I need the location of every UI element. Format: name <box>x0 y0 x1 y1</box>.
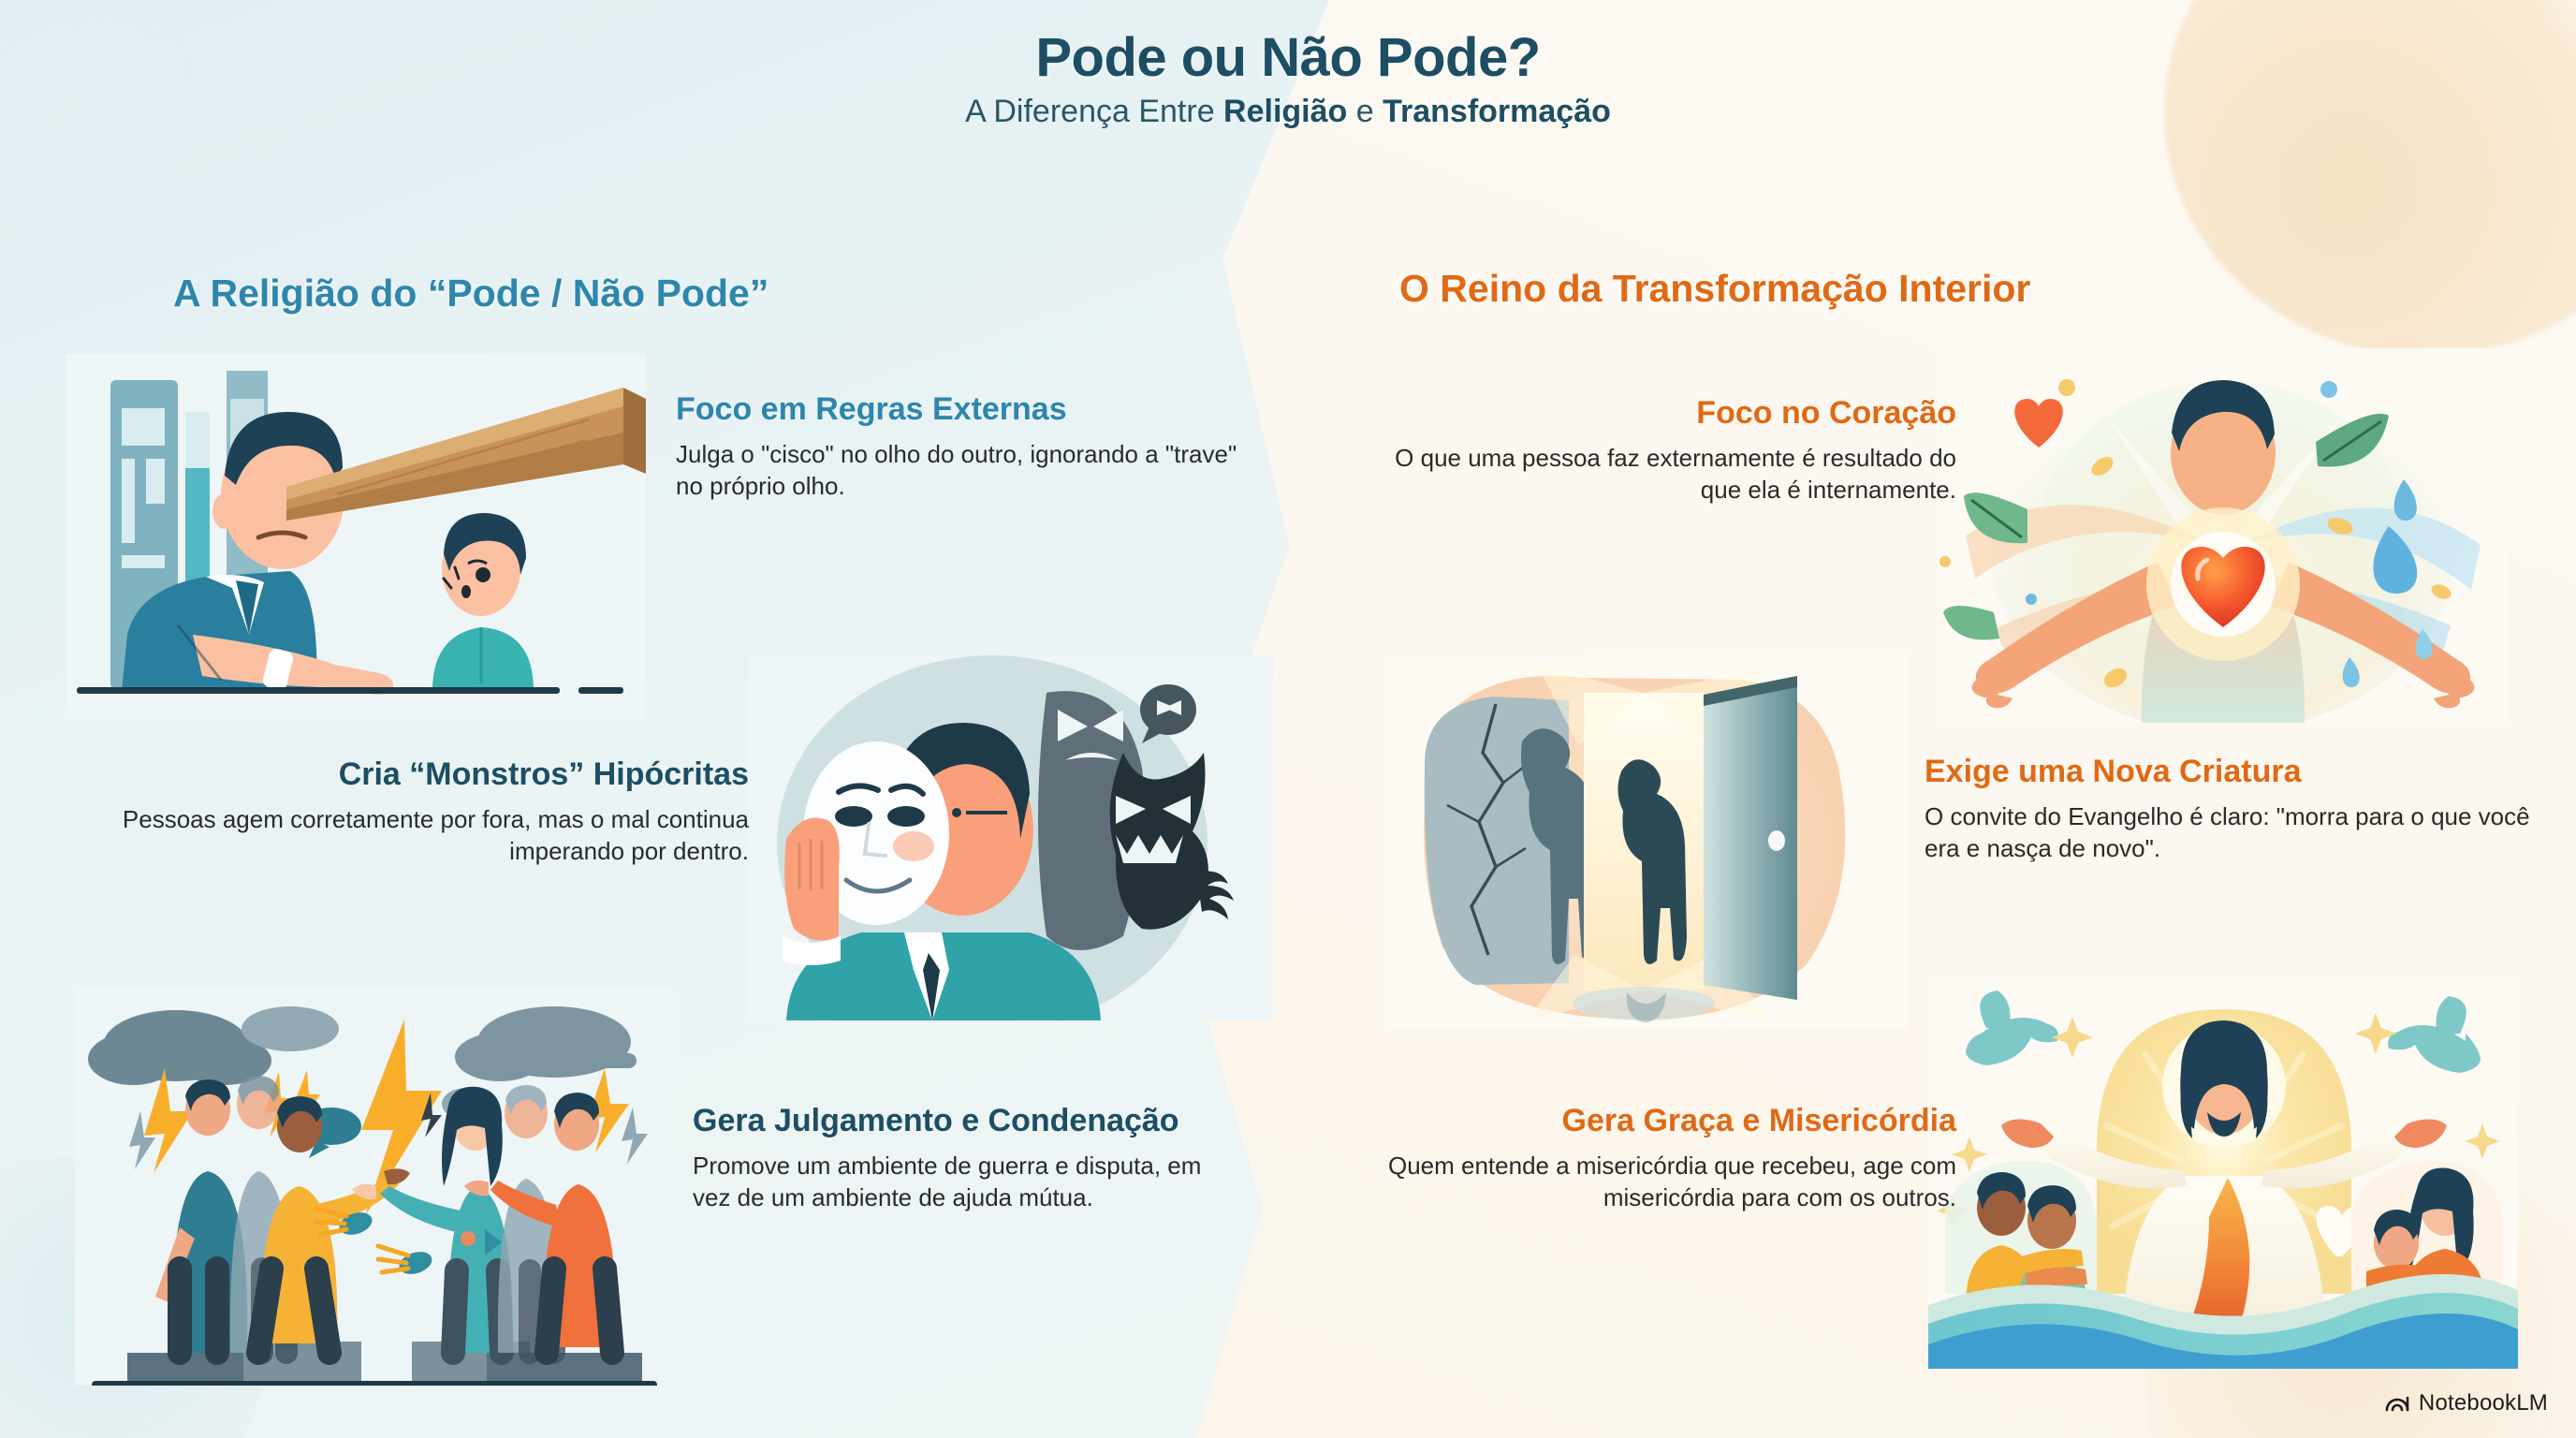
right-item-2-title: Exige uma Nova Criatura <box>1925 754 2533 790</box>
left-item-3-body: Promove um ambiente de guerra e disputa,… <box>693 1151 1245 1214</box>
left-item-3: Gera Julgamento e Condenação Promove um … <box>693 1103 1245 1213</box>
illustration-radiant-heart-person <box>1938 348 2509 723</box>
right-item-3-body: Quem entende a misericórdia que recebeu,… <box>1310 1151 1956 1214</box>
right-item-3-title: Gera Graça e Misericórdia <box>1310 1103 1956 1139</box>
subtitle-bold-religiao: Religião <box>1223 94 1347 129</box>
notebooklm-arc-logo-icon <box>2384 1388 2410 1417</box>
illustration-conflict-groups <box>75 988 674 1386</box>
subtitle-part-1: A Diferença Entre <box>965 94 1223 129</box>
left-column-heading: A Religião do “Pode / Não Pode” <box>173 271 768 315</box>
right-column-heading: O Reino da Transformação Interior <box>1399 267 2030 311</box>
right-item-1-body: O que uma pessoa faz externamente é resu… <box>1385 443 1956 506</box>
watermark: NotebookLM <box>2384 1388 2548 1417</box>
right-item-1: Foco no Coração O que uma pessoa faz ext… <box>1385 395 1956 506</box>
left-item-3-title: Gera Julgamento e Condenação <box>693 1103 1245 1139</box>
right-item-3: Gera Graça e Misericórdia Quem entende a… <box>1310 1103 1956 1213</box>
watermark-label: NotebookLM <box>2419 1390 2548 1416</box>
page-subtitle: A Diferença Entre Religião e Transformaç… <box>0 94 2576 130</box>
right-item-1-title: Foco no Coração <box>1385 395 1956 432</box>
right-item-2: Exige uma Nova Criatura O convite do Eva… <box>1925 754 2533 864</box>
left-item-2-body: Pessoas agem corretamente por fora, mas … <box>47 804 749 868</box>
left-item-2: Cria “Monstros” Hipócritas Pessoas agem … <box>47 756 749 867</box>
right-item-2-body: O convite do Evangelho é claro: "morra p… <box>1925 801 2533 865</box>
left-item-1-body: Julga o "cisco" no olho do outro, ignora… <box>676 439 1237 503</box>
left-item-1: Foco em Regras Externas Julga o "cisco" … <box>676 391 1237 502</box>
left-item-2-title: Cria “Monstros” Hipócritas <box>47 756 749 793</box>
illustration-mask-and-monsters <box>749 655 1273 1020</box>
subtitle-bold-transformacao: Transformação <box>1383 94 1611 129</box>
illustration-doorway-new-creature <box>1385 655 1910 1030</box>
infographic-poster: Pode ou Não Pode? A Diferença Entre Reli… <box>0 0 2576 1438</box>
illustration-jesus-grace-mercy <box>1928 976 2518 1369</box>
page-title: Pode ou Não Pode? <box>0 26 2576 89</box>
subtitle-part-2: e <box>1347 94 1383 129</box>
illustration-man-with-plank <box>66 354 646 719</box>
left-item-1-title: Foco em Regras Externas <box>676 391 1237 428</box>
